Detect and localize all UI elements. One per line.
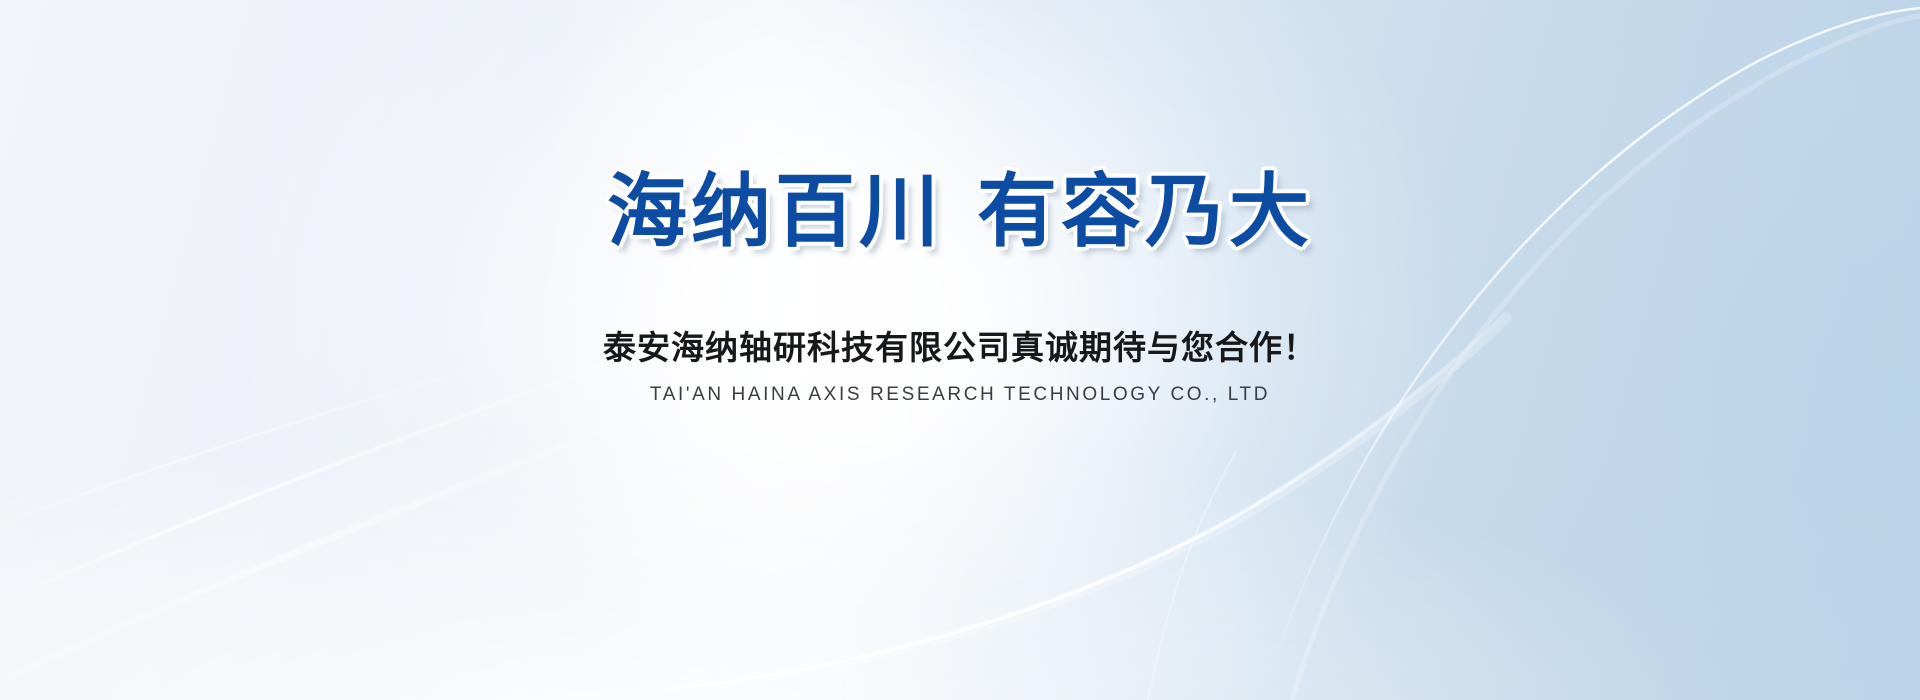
hero-content: 海纳百川有容乃大 泰安海纳轴研科技有限公司真诚期待与您合作！ TAI'AN HA… <box>0 0 1920 700</box>
page-title: 海纳百川有容乃大 <box>607 172 1313 252</box>
headline-part-1: 海纳百川 <box>607 167 943 256</box>
subtitle-chinese: 泰安海纳轴研科技有限公司真诚期待与您合作！ <box>603 328 1317 368</box>
hero-banner: 海纳百川有容乃大 泰安海纳轴研科技有限公司真诚期待与您合作！ TAI'AN HA… <box>0 0 1920 700</box>
subtitle-english: TAI'AN HAINA AXIS RESEARCH TECHNOLOGY CO… <box>650 384 1270 407</box>
headline-part-2: 有容乃大 <box>977 167 1313 256</box>
